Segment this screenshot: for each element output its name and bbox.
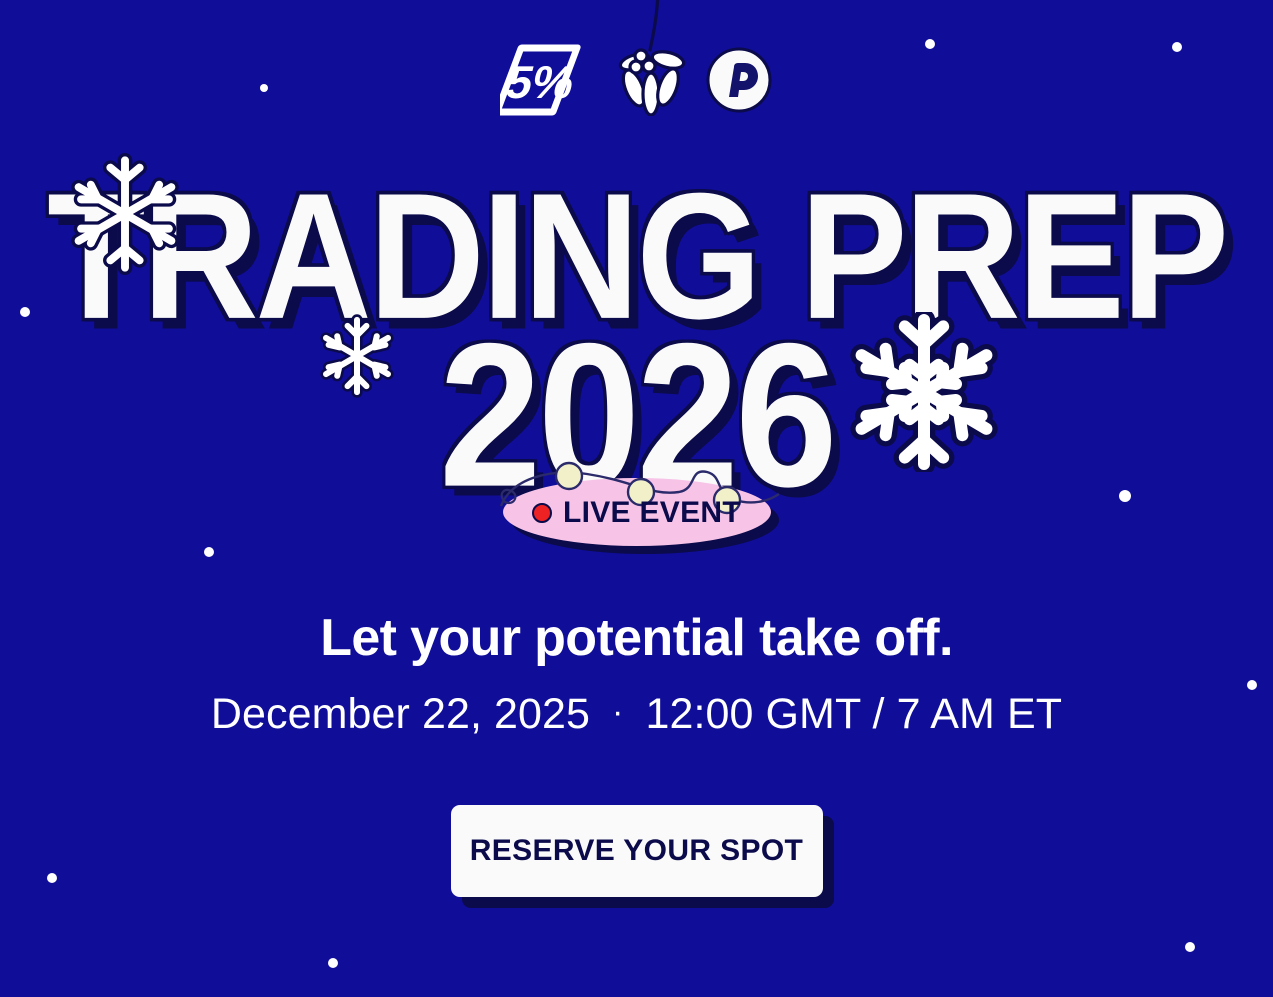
five-percent-logo: 5% <box>500 44 596 116</box>
live-event-label: LIVE EVENT <box>563 496 741 530</box>
star-dot <box>1185 942 1195 952</box>
hero-tagline: Let your potential take off. <box>0 608 1273 668</box>
datetime-separator: · <box>612 695 623 729</box>
live-event-badge: LIVE EVENT <box>503 478 771 546</box>
cta-container: RESERVE YOUR SPOT <box>0 805 1273 897</box>
live-indicator-dot <box>532 503 552 523</box>
snowflake-right-icon <box>842 312 1006 472</box>
event-datetime: December 22, 2025 · 12:00 GMT / 7 AM ET <box>0 690 1273 739</box>
reserve-your-spot-button[interactable]: RESERVE YOUR SPOT <box>451 805 823 897</box>
star-dot <box>1247 680 1257 690</box>
event-time: 12:00 GMT / 7 AM ET <box>645 690 1062 739</box>
brand-logo-row: 5% <box>0 44 1273 116</box>
snowflake-top-left-icon <box>64 152 186 276</box>
event-date: December 22, 2025 <box>211 690 590 739</box>
mistletoe-icon <box>614 44 686 116</box>
snowflake-center-icon <box>314 312 400 400</box>
star-dot <box>328 958 338 968</box>
p-brand-logo <box>704 45 774 115</box>
svg-text:5%: 5% <box>500 57 579 108</box>
